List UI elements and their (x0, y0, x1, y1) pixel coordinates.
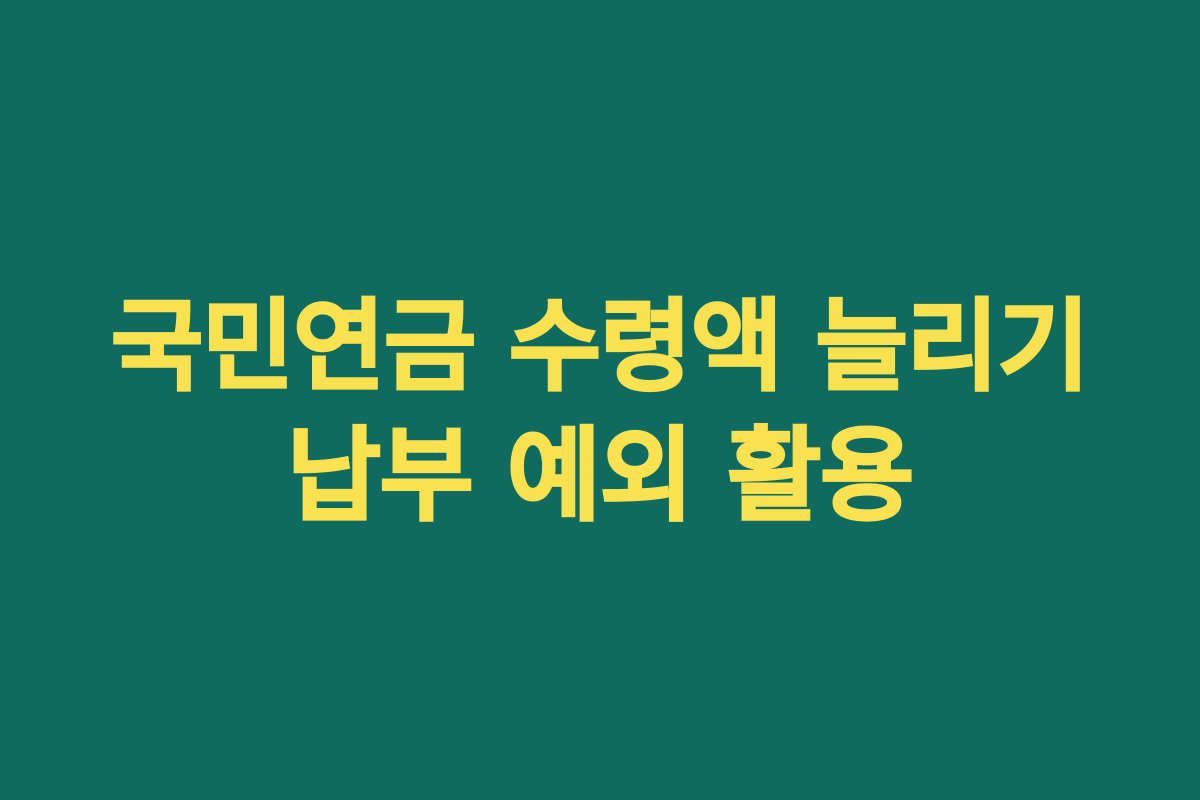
title-line-1: 국민연금 수령액 늘리기 (0, 282, 1200, 412)
title-line-2: 납부 예외 활용 (0, 412, 1200, 542)
banner-canvas: 국민연금 수령액 늘리기 납부 예외 활용 (0, 0, 1200, 800)
title-block: 국민연금 수령액 늘리기 납부 예외 활용 (0, 282, 1200, 542)
